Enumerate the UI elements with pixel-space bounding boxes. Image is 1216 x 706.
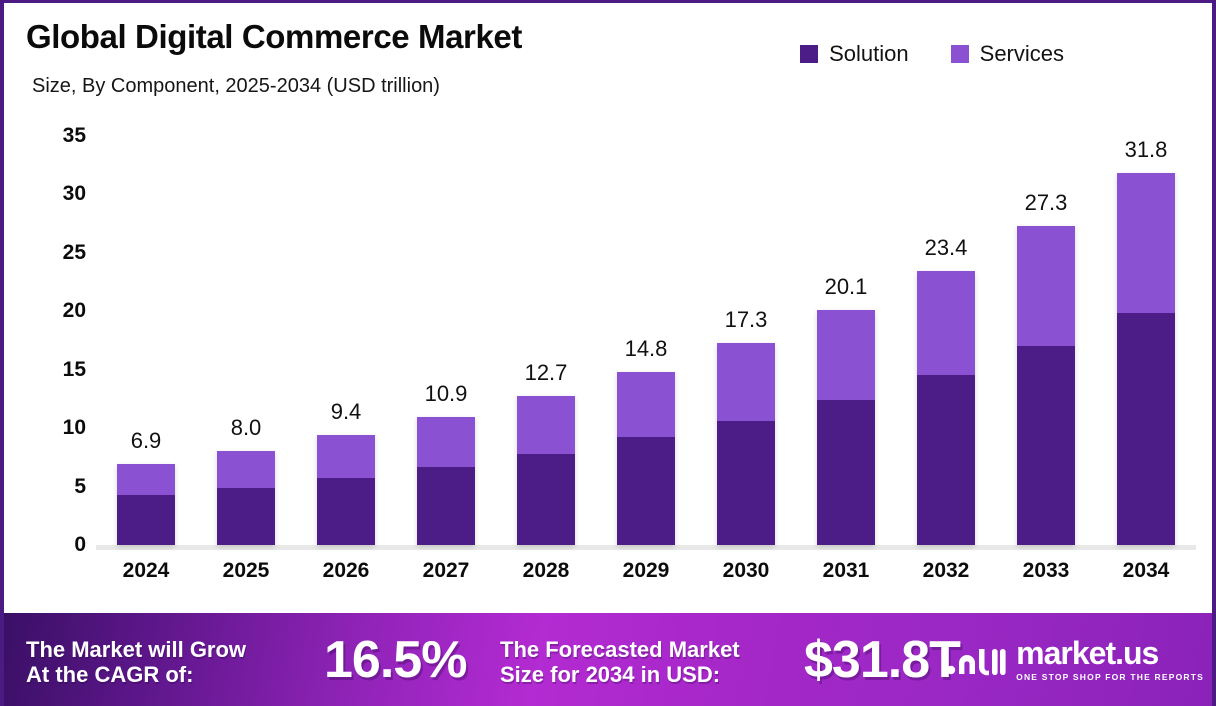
bar-group-2029[interactable]: 14.82029	[617, 115, 675, 545]
bar-total-label-2026: 9.4	[331, 399, 362, 425]
bar-segment-services[interactable]	[617, 372, 675, 438]
bar-segment-solution[interactable]	[817, 400, 875, 545]
bar-segment-solution[interactable]	[317, 478, 375, 545]
bar-segment-solution[interactable]	[1117, 313, 1175, 545]
bar-segment-solution[interactable]	[417, 467, 475, 545]
bar-segment-services[interactable]	[517, 396, 575, 453]
market-us-logo-icon	[946, 643, 1006, 677]
bar-segment-services[interactable]	[1017, 226, 1075, 347]
bar-segment-services[interactable]	[417, 417, 475, 466]
bar-group-2028[interactable]: 12.72028	[517, 115, 575, 545]
bar-total-label-2028: 12.7	[525, 360, 568, 386]
bar-segment-solution[interactable]	[917, 375, 975, 545]
bar-group-2030[interactable]: 17.32030	[717, 115, 775, 545]
x-axis-label-2025: 2025	[223, 559, 270, 583]
y-axis-tick-10: 10	[63, 416, 86, 440]
bar-segment-services[interactable]	[1117, 173, 1175, 313]
bar-total-label-2027: 10.9	[425, 381, 468, 407]
bar-segment-solution[interactable]	[617, 437, 675, 545]
x-axis-label-2032: 2032	[923, 559, 970, 583]
bar-segment-services[interactable]	[317, 435, 375, 478]
bar-stack[interactable]	[117, 464, 175, 545]
bar-group-2033[interactable]: 27.32033	[1017, 115, 1075, 545]
x-axis-label-2028: 2028	[523, 559, 570, 583]
bar-stack[interactable]	[1017, 226, 1075, 545]
bar-stack[interactable]	[917, 271, 975, 545]
bar-total-label-2034: 31.8	[1125, 137, 1168, 163]
bar-segment-solution[interactable]	[717, 421, 775, 545]
legend-item-solution[interactable]: Solution	[800, 41, 909, 67]
cagr-label: The Market will Grow At the CAGR of:	[26, 637, 246, 688]
square-swatch	[800, 45, 818, 63]
chart-subtitle: Size, By Component, 2025-2034 (USD trill…	[32, 75, 440, 98]
cagr-value: 16.5%	[324, 631, 466, 691]
y-axis-tick-25: 25	[63, 241, 86, 265]
x-axis-baseline	[96, 545, 1196, 550]
bar-stack[interactable]	[417, 417, 475, 545]
bar-group-2032[interactable]: 23.42032	[917, 115, 975, 545]
x-axis-label-2024: 2024	[123, 559, 170, 583]
bar-total-label-2025: 8.0	[231, 415, 262, 441]
y-axis-tick-0: 0	[74, 533, 86, 557]
x-axis-label-2029: 2029	[623, 559, 670, 583]
bar-total-label-2030: 17.3	[725, 307, 768, 333]
bar-segment-solution[interactable]	[217, 488, 275, 545]
bar-stack[interactable]	[517, 396, 575, 545]
bar-segment-solution[interactable]	[117, 495, 175, 545]
bar-segment-solution[interactable]	[517, 454, 575, 545]
chart-header: Global Digital Commerce Market Size, By …	[4, 3, 1212, 115]
page-title: Global Digital Commerce Market	[26, 18, 522, 56]
forecast-label: The Forecasted Market Size for 2034 in U…	[500, 637, 740, 688]
bar-group-2024[interactable]: 6.92024	[117, 115, 175, 545]
bar-segment-services[interactable]	[117, 464, 175, 494]
chart-plot-area: 05101520253035 6.920248.020259.4202610.9…	[4, 115, 1216, 605]
legend-item-services[interactable]: Services	[951, 41, 1064, 67]
bar-group-2026[interactable]: 9.42026	[317, 115, 375, 545]
square-swatch	[951, 45, 969, 63]
bar-total-label-2033: 27.3	[1025, 190, 1068, 216]
bar-segment-services[interactable]	[917, 271, 975, 375]
forecast-value: $31.8T	[804, 631, 960, 691]
x-axis-label-2031: 2031	[823, 559, 870, 583]
y-axis-tick-30: 30	[63, 182, 86, 206]
legend-label: Solution	[829, 41, 909, 67]
bar-total-label-2024: 6.9	[131, 428, 162, 454]
x-axis-label-2027: 2027	[423, 559, 470, 583]
bar-stack[interactable]	[717, 343, 775, 545]
x-axis-label-2026: 2026	[323, 559, 370, 583]
bar-segment-services[interactable]	[717, 343, 775, 421]
y-axis: 05101520253035	[4, 115, 96, 559]
y-axis-tick-15: 15	[63, 358, 86, 382]
bar-stack[interactable]	[317, 435, 375, 545]
bar-group-2031[interactable]: 20.12031	[817, 115, 875, 545]
bar-series-container: 6.920248.020259.4202610.9202712.7202814.…	[96, 115, 1196, 545]
bar-stack[interactable]	[217, 451, 275, 545]
bar-group-2034[interactable]: 31.82034	[1117, 115, 1175, 545]
chart-legend: SolutionServices	[800, 41, 1064, 67]
y-axis-tick-20: 20	[63, 299, 86, 323]
bar-stack[interactable]	[617, 372, 675, 545]
footer-banner: The Market will Grow At the CAGR of: 16.…	[4, 613, 1216, 706]
x-axis-label-2034: 2034	[1123, 559, 1170, 583]
bar-segment-services[interactable]	[217, 451, 275, 487]
x-axis-label-2030: 2030	[723, 559, 770, 583]
market-us-logo[interactable]: market.us ONE STOP SHOP FOR THE REPORTS	[946, 637, 1204, 682]
bar-group-2025[interactable]: 8.02025	[217, 115, 275, 545]
bar-segment-solution[interactable]	[1017, 346, 1075, 545]
y-axis-tick-5: 5	[74, 475, 86, 499]
y-axis-tick-35: 35	[63, 124, 86, 148]
logo-tagline: ONE STOP SHOP FOR THE REPORTS	[1016, 672, 1204, 682]
x-axis-label-2033: 2033	[1023, 559, 1070, 583]
bar-stack[interactable]	[1117, 173, 1175, 545]
legend-label: Services	[980, 41, 1064, 67]
bar-total-label-2029: 14.8	[625, 336, 668, 362]
bar-segment-services[interactable]	[817, 310, 875, 400]
bar-group-2027[interactable]: 10.92027	[417, 115, 475, 545]
bar-total-label-2032: 23.4	[925, 235, 968, 261]
bar-stack[interactable]	[817, 310, 875, 545]
infographic-root: Global Digital Commerce Market Size, By …	[0, 0, 1216, 706]
bar-total-label-2031: 20.1	[825, 274, 868, 300]
logo-wordmark: market.us	[1016, 637, 1204, 669]
